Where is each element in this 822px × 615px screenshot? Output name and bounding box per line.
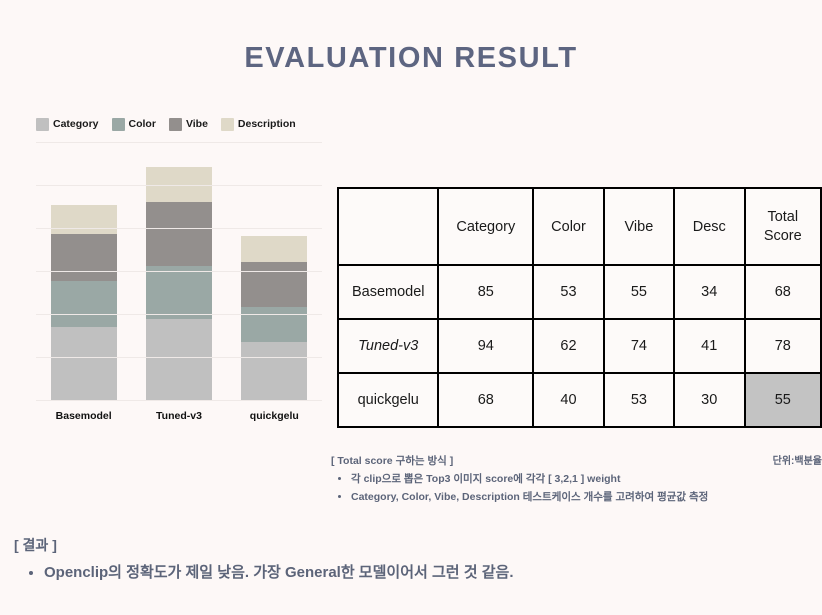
table-cell-total-score: 78 [745,319,821,373]
table-row: Basemodel8553553468 [338,265,821,319]
table-cell-color: 40 [533,373,604,427]
bar-segment-category [241,342,307,400]
legend-item-label: Description [238,119,296,130]
slide-root: EVALUATION RESULT CategoryColorVibeDescr… [0,0,822,615]
bar-segment-category [51,327,117,400]
table-header-color: Color [533,188,604,265]
table-cell-color: 62 [533,319,604,373]
bar-segment-vibe [146,202,212,266]
notes-unit: 단위:백분율 [773,452,822,467]
table-header-desc: Desc [674,188,745,265]
table-header-row: CategoryColorVibeDescTotalScore [338,188,821,265]
chart-gridline [36,314,322,315]
bar-segment-vibe [51,234,117,281]
table-cell-model-name: Basemodel [338,265,438,319]
table-cell-desc: 41 [674,319,745,373]
bar-segment-vibe [241,262,307,308]
table-cell-vibe: 55 [604,265,674,319]
total-score-notes: [ Total score 구하는 방식 ] 단위:백분율 각 clip으로 뽑… [331,452,822,505]
chart-legend: CategoryColorVibeDescription [36,118,296,131]
table-header-total-line1: Total [746,208,820,226]
legend-swatch-icon [221,118,234,131]
table-cell-model-name: Tuned-v3 [338,319,438,373]
notes-bullet-list: 각 clip으로 뽑은 Top3 이미지 score에 각각 [ 3,2,1 ]… [331,472,822,505]
table-cell-model-name: quickgelu [338,373,438,427]
table-header-total-line2: Score [746,227,820,245]
chart-gridline [36,185,322,186]
table-header-category: Category [438,188,533,265]
table-cell-color: 53 [533,265,604,319]
table-cell-total-score: 55 [745,373,821,427]
chart-gridline [36,357,322,358]
legend-item-label: Category [53,119,99,130]
table-cell-vibe: 74 [604,319,674,373]
chart-gridline [36,228,322,229]
legend-item-label: Color [129,119,156,130]
table-row: Tuned-v39462744178 [338,319,821,373]
table-cell-desc: 30 [674,373,745,427]
chart-gridline [36,400,322,401]
chart-x-tick-label: Basemodel [51,410,117,422]
bar-segment-description [51,205,117,234]
bar-segment-color [241,307,307,341]
table-cell-desc: 34 [674,265,745,319]
legend-swatch-icon [112,118,125,131]
chart-x-tick-label: Tuned-v3 [146,410,212,422]
list-item: Category, Color, Vibe, Description 테스트케이… [351,490,822,505]
result-section: [ 결과 ] Openclip의 정확도가 제일 낮음. 가장 General한… [14,535,814,585]
chart-x-axis-labels: BasemodelTuned-v3quickgelu [36,410,322,422]
table-row: quickgelu6840533055 [338,373,821,427]
legend-item-label: Vibe [186,119,208,130]
list-item: 각 clip으로 뽑은 Top3 이미지 score에 각각 [ 3,2,1 ]… [351,472,822,487]
bar-segment-category [146,319,212,400]
table-header-total-score: TotalScore [745,188,821,265]
list-item: Openclip의 정확도가 제일 낮음. 가장 General한 모델이어서 … [44,562,814,585]
table-cell-vibe: 53 [604,373,674,427]
table-cell-total-score: 68 [745,265,821,319]
legend-swatch-icon [169,118,182,131]
table-cell-category: 68 [438,373,533,427]
legend-item-description: Description [221,118,296,131]
table-cell-category: 94 [438,319,533,373]
legend-item-color: Color [112,118,156,131]
notes-heading: [ Total score 구하는 방식 ] [331,453,453,468]
result-heading: [ 결과 ] [14,535,814,555]
page-title: EVALUATION RESULT [0,42,822,75]
scores-table: CategoryColorVibeDescTotalScoreBasemodel… [337,187,822,428]
result-bullet-list: Openclip의 정확도가 제일 낮음. 가장 General한 모델이어서 … [14,562,814,585]
legend-item-category: Category [36,118,99,131]
chart-plot-area: 050100150200250300 [36,142,322,400]
chart-gridline [36,271,322,272]
table-header-vibe: Vibe [604,188,674,265]
bar-segment-description [241,236,307,262]
bar-segment-color [146,266,212,319]
legend-swatch-icon [36,118,49,131]
bar-segment-color [51,281,117,327]
scores-table-wrapper: CategoryColorVibeDescTotalScoreBasemodel… [337,187,822,428]
chart-gridline [36,142,322,143]
legend-item-vibe: Vibe [169,118,208,131]
table-cell-category: 85 [438,265,533,319]
chart-x-tick-label: quickgelu [241,410,307,422]
evaluation-bar-chart: CategoryColorVibeDescription 05010015020… [0,118,335,423]
table-header-blank [338,188,438,265]
